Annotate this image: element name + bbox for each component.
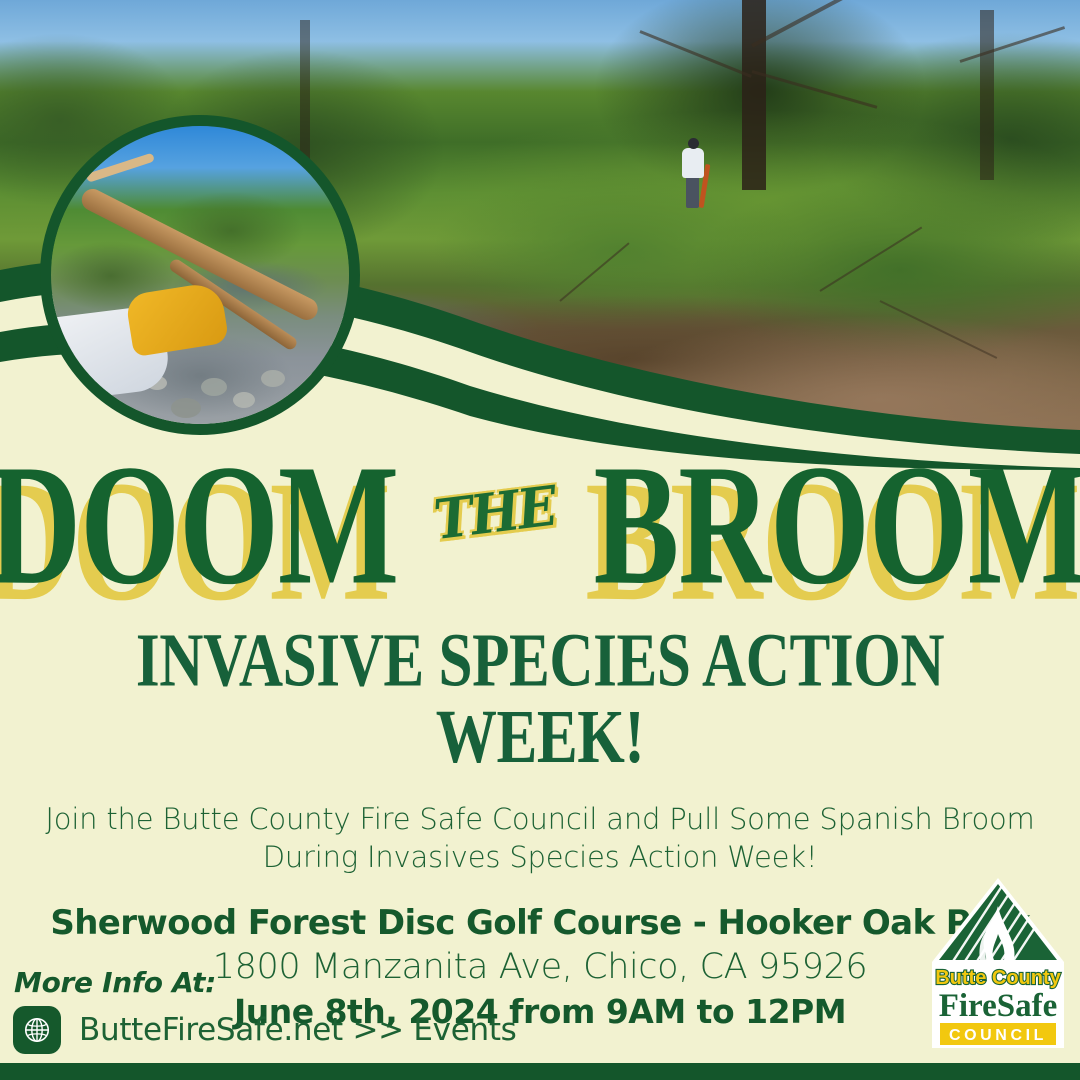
volunteer-figure	[680, 138, 706, 210]
headline: DOOM THE BROOM	[0, 456, 1080, 586]
globe-icon-glyph	[22, 1015, 52, 1045]
logo-line-1: Butte County	[935, 967, 1061, 989]
website-link[interactable]: ButteFireSafe.net >> Events	[79, 1012, 517, 1048]
butte-county-firesafe-council-logo: Butte County FireSafe COUNCIL	[928, 876, 1068, 1051]
bottom-accent-bar	[0, 1063, 1080, 1080]
figure-head	[688, 138, 699, 149]
pebble-icon	[261, 370, 285, 387]
work-glove-icon	[125, 281, 230, 357]
logo-line-2: FireSafe	[939, 988, 1058, 1024]
website-row[interactable]: ButteFireSafe.net >> Events	[13, 1006, 517, 1054]
logo-line-3: COUNCIL	[949, 1027, 1047, 1044]
headline-word-doom: DOOM	[0, 439, 398, 612]
inset-circle-photo	[40, 115, 360, 435]
headline-word-broom: BROOM	[594, 439, 1080, 612]
more-info-label: More Info At:	[14, 966, 216, 999]
tree-trunk-icon	[742, 0, 766, 190]
subheadline: INVASIVE SPECIES ACTION WEEK!	[54, 622, 1026, 774]
broom-root-icon	[86, 153, 155, 183]
tree-trunk-icon	[980, 10, 994, 180]
pebble-icon	[171, 398, 201, 418]
poster-content: DOOM THE BROOM INVASIVE SPECIES ACTION W…	[0, 440, 1080, 1032]
description-line-2: During Invasives Species Action Week!	[0, 838, 1080, 876]
description: Join the Butte County Fire Safe Council …	[0, 800, 1080, 877]
poster-canvas: DOOM THE BROOM INVASIVE SPECIES ACTION W…	[0, 0, 1080, 1080]
logo-graphic: Butte County FireSafe COUNCIL	[928, 876, 1068, 1051]
figure-body	[682, 148, 704, 178]
inset-photo-background	[51, 126, 349, 424]
pebble-icon	[233, 392, 255, 408]
pebble-icon	[201, 378, 227, 396]
headline-script-the: THE	[430, 474, 558, 552]
event-venue: Sherwood Forest Disc Golf Course - Hooke…	[0, 903, 1080, 943]
figure-legs	[686, 176, 699, 208]
globe-icon	[13, 1006, 61, 1054]
description-line-1: Join the Butte County Fire Safe Council …	[0, 800, 1080, 838]
